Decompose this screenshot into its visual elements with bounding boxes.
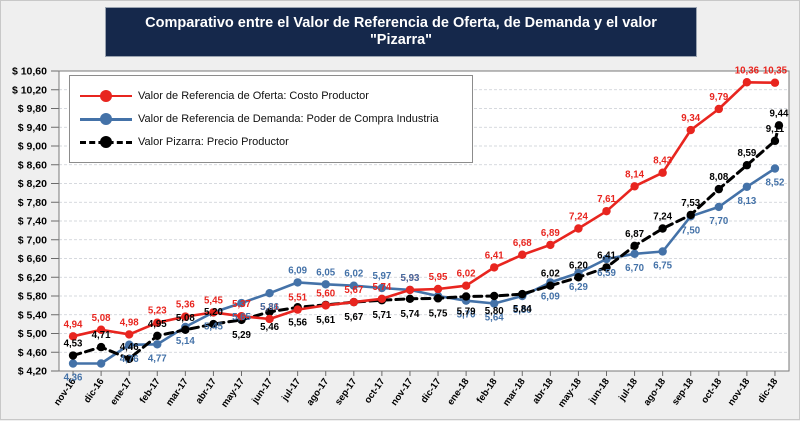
data-label: 5,14 <box>176 336 195 347</box>
data-point <box>69 359 77 367</box>
page-title: Comparativo entre el Valor de Referencia… <box>105 7 697 57</box>
data-point <box>715 105 723 113</box>
data-label: 5,60 <box>316 288 335 299</box>
data-point <box>462 281 470 289</box>
data-label: 5,74 <box>372 282 391 293</box>
data-label: 8,59 <box>737 148 756 159</box>
data-point <box>97 359 105 367</box>
x-axis-tick-label: sep-17 <box>333 376 359 407</box>
data-label: 9,44 <box>770 108 789 119</box>
data-label: 6,70 <box>625 263 644 274</box>
data-point <box>687 126 695 134</box>
data-label: 7,50 <box>681 225 700 236</box>
data-point <box>602 207 610 215</box>
data-point <box>490 263 498 271</box>
data-label: 10,36 <box>735 65 760 76</box>
data-point <box>743 183 751 191</box>
x-axis-tick-label: feb-17 <box>138 376 163 405</box>
data-label: 9,34 <box>681 113 700 124</box>
data-label: 5,29 <box>232 330 251 341</box>
data-label: 5,56 <box>288 317 307 328</box>
data-label: 6,59 <box>597 268 616 279</box>
y-axis-tick-label: $ 7,40 <box>18 216 47 228</box>
y-axis-tick-label: $ 7,00 <box>18 234 47 246</box>
data-label: 5,79 <box>457 306 476 317</box>
legend-label-demanda: Valor de Referencia de Demanda: Poder de… <box>138 113 439 125</box>
x-axis-tick-label: ene-18 <box>445 376 471 407</box>
data-label: 5,74 <box>401 309 420 320</box>
data-point <box>630 250 638 258</box>
data-label: 5,71 <box>372 310 391 321</box>
data-point <box>518 251 526 259</box>
y-axis-tick-label: $ 5,40 <box>18 309 47 321</box>
y-axis-tick-label: $ 9,80 <box>18 103 47 115</box>
data-label: 6,02 <box>541 269 560 280</box>
data-point <box>293 305 301 313</box>
y-axis-tick-label: $ 9,00 <box>18 141 47 153</box>
data-point <box>658 224 666 232</box>
data-label: 6,87 <box>625 229 644 240</box>
x-axis-tick-label: jun-17 <box>249 376 275 406</box>
data-point <box>434 294 442 302</box>
y-axis-tick-label: $ 8,20 <box>18 178 47 190</box>
data-label: 4,46 <box>120 342 139 353</box>
data-label: 5,37 <box>232 299 251 310</box>
x-axis-tick-label: feb-18 <box>475 376 500 405</box>
data-point <box>406 295 414 303</box>
data-label: 7,61 <box>597 194 616 205</box>
legend-label-oferta: Valor de Referencia de Oferta: Costo Pro… <box>138 90 369 102</box>
data-point <box>546 241 554 249</box>
data-label: 7,24 <box>569 212 588 223</box>
data-point <box>462 292 470 300</box>
data-label: 4,53 <box>64 339 83 350</box>
x-axis-tick-label: abr-18 <box>530 376 555 406</box>
data-label: 5,08 <box>92 313 111 324</box>
x-axis-tick-label: dic-17 <box>419 376 444 405</box>
data-point <box>153 340 161 348</box>
x-axis-tick-label: oct-17 <box>362 376 387 405</box>
legend-item-pizarra: Valor Pizarra: Precio Productor <box>80 131 462 153</box>
data-point <box>687 211 695 219</box>
data-label: 6,29 <box>569 282 588 293</box>
data-label: 4,98 <box>120 317 139 328</box>
x-axis-tick-label: ago-17 <box>305 376 332 407</box>
data-point <box>378 295 386 303</box>
data-label: 9,79 <box>709 92 728 103</box>
x-axis-tick-label: ago-18 <box>642 376 669 407</box>
data-point <box>574 273 582 281</box>
data-point <box>658 247 666 255</box>
x-axis-tick-label: ene-17 <box>108 376 134 407</box>
x-axis-tick-label: may-17 <box>219 376 247 409</box>
y-axis-tick-label: $ 10,20 <box>12 84 47 96</box>
data-label: 6,09 <box>288 265 307 276</box>
data-label: 4,36 <box>64 373 83 384</box>
data-label: 5,80 <box>485 306 504 317</box>
x-axis-tick-label: jul-18 <box>616 376 640 403</box>
data-label: 4,71 <box>92 330 111 341</box>
data-point <box>265 289 273 297</box>
data-point <box>715 185 723 193</box>
data-label: 5,51 <box>288 293 307 304</box>
data-label: 5,46 <box>260 322 279 333</box>
data-label: 5,45 <box>204 295 223 306</box>
data-label: 5,61 <box>316 315 335 326</box>
data-label: 4,95 <box>148 319 167 330</box>
data-point <box>771 164 779 172</box>
data-label: 5,20 <box>204 307 223 318</box>
data-point <box>715 203 723 211</box>
data-label: 5,95 <box>429 272 448 283</box>
x-axis-tick-label: jul-17 <box>279 376 303 403</box>
y-axis-tick-label: $ 5,00 <box>18 328 47 340</box>
chart-container: Comparativo entre el Valor de Referencia… <box>0 0 800 420</box>
chart-legend: Valor de Referencia de Oferta: Costo Pro… <box>69 75 473 163</box>
data-point <box>322 280 330 288</box>
data-point <box>69 351 77 359</box>
data-label: 5,08 <box>176 313 195 324</box>
data-point <box>293 278 301 286</box>
x-axis-tick-label: mar-18 <box>501 376 528 408</box>
y-axis-tick-label: $ 5,80 <box>18 291 47 303</box>
data-label: 6,02 <box>457 269 476 280</box>
x-axis-tick-label: mar-17 <box>164 376 191 408</box>
data-label: 8,43 <box>653 156 672 167</box>
data-point <box>630 182 638 190</box>
data-label: 5,65 <box>232 312 251 323</box>
y-axis-tick-label: $ 4,60 <box>18 347 47 359</box>
x-axis-tick-label: dic-18 <box>756 376 781 405</box>
legend-label-pizarra: Valor Pizarra: Precio Productor <box>138 136 289 148</box>
data-point <box>518 290 526 298</box>
data-label: 5,86 <box>260 302 279 313</box>
data-label: 6,05 <box>316 267 335 278</box>
data-label: 5,67 <box>344 285 363 296</box>
data-point <box>406 286 414 294</box>
data-point <box>743 161 751 169</box>
data-label: 4,94 <box>64 319 83 330</box>
y-axis-tick-label: $ 9,40 <box>18 122 47 134</box>
data-label: 5,23 <box>148 306 167 317</box>
data-label: 6,41 <box>485 250 504 261</box>
data-label: 5,97 <box>372 271 391 282</box>
x-axis-tick-label: may-18 <box>556 376 584 409</box>
data-label: 4,76 <box>120 354 139 365</box>
data-point <box>153 332 161 340</box>
data-point <box>490 292 498 300</box>
data-label: 5,93 <box>401 273 420 284</box>
data-label: 4,77 <box>148 353 167 364</box>
data-label: 6,68 <box>513 238 532 249</box>
data-label: 8,13 <box>737 196 756 207</box>
data-label: 7,70 <box>709 216 728 227</box>
data-label: 6,02 <box>344 269 363 280</box>
data-label: 6,89 <box>541 228 560 239</box>
x-axis-tick-label: nov-18 <box>726 376 753 407</box>
legend-marker-demanda <box>80 112 132 126</box>
x-axis-tick-label: abr-17 <box>194 376 219 406</box>
y-axis-tick-label: $ 6,20 <box>18 272 47 284</box>
legend-marker-pizarra <box>80 135 132 149</box>
data-label: 10,35 <box>763 66 788 77</box>
x-axis-tick-label: sep-18 <box>670 376 696 407</box>
data-point <box>125 330 133 338</box>
legend-marker-oferta <box>80 89 132 103</box>
data-label: 5,67 <box>344 312 363 323</box>
data-point <box>743 78 751 86</box>
y-axis-tick-label: $ 10,60 <box>12 66 47 78</box>
data-label: 5,36 <box>176 300 195 311</box>
legend-item-demanda: Valor de Referencia de Demanda: Poder de… <box>80 108 462 130</box>
data-point <box>350 298 358 306</box>
data-label: 5,84 <box>513 304 532 315</box>
y-axis-tick-label: $ 4,20 <box>18 366 47 378</box>
data-point <box>574 224 582 232</box>
data-label: 6,09 <box>541 291 560 302</box>
data-label: 8,52 <box>766 178 785 189</box>
y-axis-tick-label: $ 8,60 <box>18 159 47 171</box>
data-label: 7,24 <box>653 212 672 223</box>
x-axis-tick-label: dic-16 <box>82 376 107 405</box>
data-point <box>181 326 189 334</box>
data-label: 5,75 <box>429 308 448 319</box>
data-label: 8,14 <box>625 169 644 180</box>
data-label: 6,41 <box>597 250 616 261</box>
data-point <box>322 301 330 309</box>
data-point <box>771 79 779 87</box>
data-point <box>546 281 554 289</box>
data-point <box>630 242 638 250</box>
data-point <box>658 169 666 177</box>
data-label: 6,20 <box>569 260 588 271</box>
data-label: 5,45 <box>204 321 223 332</box>
data-label: 8,08 <box>709 172 728 183</box>
data-point <box>434 285 442 293</box>
data-label: 6,75 <box>653 260 672 271</box>
y-axis-tick-label: $ 6,60 <box>18 253 47 265</box>
legend-item-oferta: Valor de Referencia de Oferta: Costo Pro… <box>80 85 462 107</box>
x-axis-tick-label: oct-18 <box>699 376 724 405</box>
data-label: 7,53 <box>681 198 700 209</box>
x-axis-tick-label: jun-18 <box>586 376 612 406</box>
y-axis-tick-label: $ 7,80 <box>18 197 47 209</box>
x-axis-tick-label: nov-17 <box>389 376 416 407</box>
data-point <box>97 343 105 351</box>
